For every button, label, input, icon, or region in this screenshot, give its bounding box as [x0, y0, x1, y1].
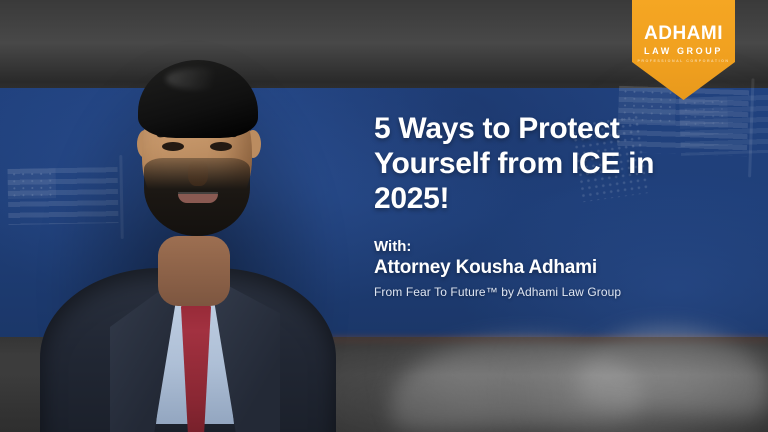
portrait-nose: [188, 160, 208, 186]
headline: 5 Ways to Protect Yourself from ICE in 2…: [374, 112, 674, 216]
speaker-portrait: [38, 18, 338, 432]
title-text-block: 5 Ways to Protect Yourself from ICE in 2…: [374, 112, 734, 299]
logo-micro-text: PROFESSIONAL CORPORATION: [638, 60, 730, 64]
portrait-mouth: [178, 194, 218, 203]
portrait-eye-right: [210, 142, 232, 151]
logo-name: ADHAMI: [644, 24, 723, 43]
speaker-name: Attorney Kousha Adhami: [374, 257, 734, 279]
portrait-hair-highlight: [166, 68, 236, 90]
portrait-eye-left: [162, 142, 184, 151]
thumbnail-canvas: ADHAMI LAW GROUP PROFESSIONAL CORPORATIO…: [0, 0, 768, 432]
portrait-neck: [158, 236, 230, 306]
with-label: With:: [374, 238, 734, 255]
logo-subtitle: LAW GROUP: [644, 47, 723, 56]
tagline: From Fear To Future™ by Adhami Law Group: [374, 285, 734, 299]
